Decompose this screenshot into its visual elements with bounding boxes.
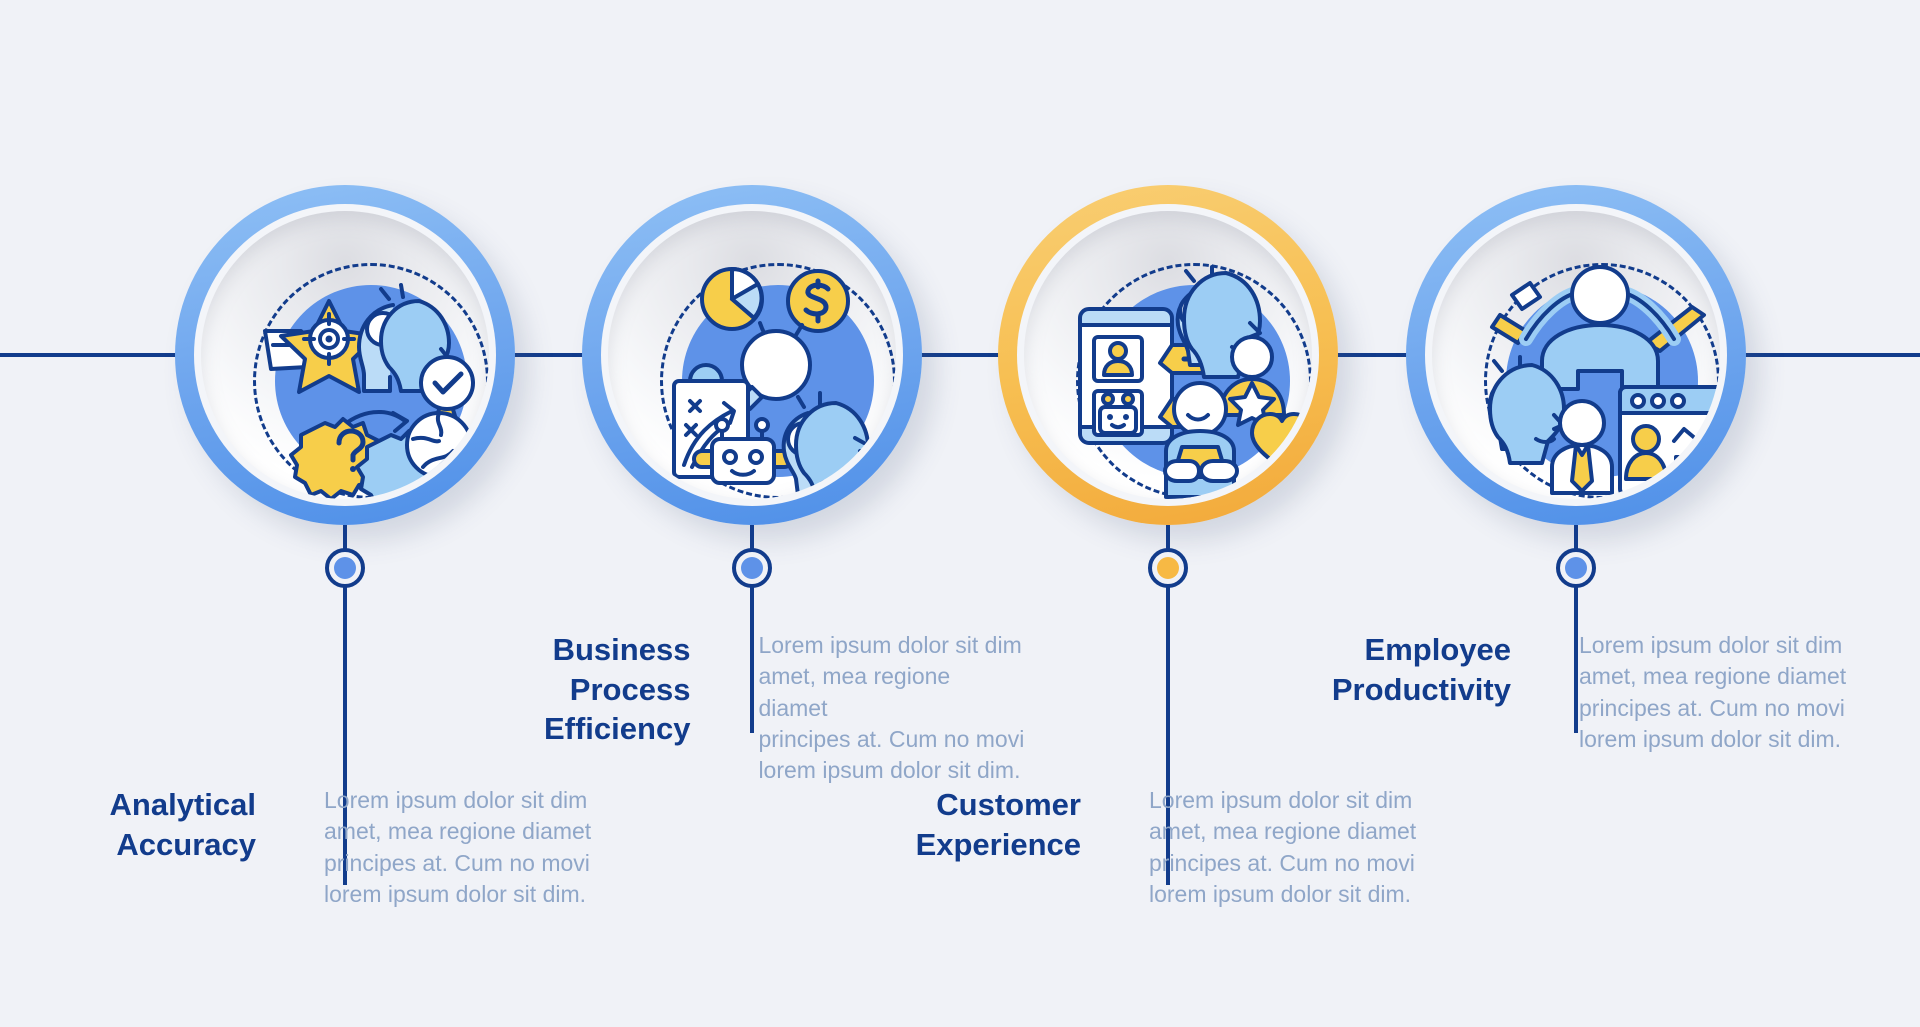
analytical-accuracy-icon bbox=[243, 253, 489, 499]
marker-dot-3[interactable] bbox=[1148, 548, 1188, 588]
step-description-1: Lorem ipsum dolor sit dim amet, mea regi… bbox=[290, 785, 591, 910]
step-circle-1[interactable] bbox=[175, 185, 515, 525]
step-text-2: Business Process Efficiency Lorem ipsum … bbox=[455, 630, 1025, 786]
marker-dot-2[interactable] bbox=[732, 548, 772, 588]
step-title-3: Customer Experience bbox=[870, 785, 1115, 864]
step-circle-4[interactable] bbox=[1406, 185, 1746, 525]
step-description-2: Lorem ipsum dolor sit dim amet, mea regi… bbox=[724, 630, 1025, 786]
step-text-4: Employee Productivity Lorem ipsum dolor … bbox=[1280, 630, 1860, 755]
step-text-3: Customer Experience Lorem ipsum dolor si… bbox=[870, 785, 1430, 910]
step-title-1: Analytical Accuracy bbox=[50, 785, 290, 864]
step-circle-2[interactable] bbox=[582, 185, 922, 525]
step-text-1: Analytical Accuracy Lorem ipsum dolor si… bbox=[50, 785, 610, 910]
step-description-3: Lorem ipsum dolor sit dim amet, mea regi… bbox=[1115, 785, 1416, 910]
step-circle-3[interactable] bbox=[998, 185, 1338, 525]
employee-productivity-icon bbox=[1474, 253, 1720, 499]
infographic-canvas: Analytical Accuracy Lorem ipsum dolor si… bbox=[0, 0, 1920, 1027]
step-dish-3 bbox=[1024, 211, 1312, 499]
step-dish-4 bbox=[1432, 211, 1720, 499]
business-process-efficiency-icon bbox=[650, 253, 896, 499]
step-title-2: Business Process Efficiency bbox=[455, 630, 724, 749]
step-title-4: Employee Productivity bbox=[1280, 630, 1545, 709]
step-description-4: Lorem ipsum dolor sit dim amet, mea regi… bbox=[1545, 630, 1846, 755]
step-dish-1 bbox=[201, 211, 489, 499]
marker-dot-1[interactable] bbox=[325, 548, 365, 588]
customer-experience-icon bbox=[1066, 253, 1312, 499]
step-dish-2 bbox=[608, 211, 896, 499]
marker-dot-4[interactable] bbox=[1556, 548, 1596, 588]
